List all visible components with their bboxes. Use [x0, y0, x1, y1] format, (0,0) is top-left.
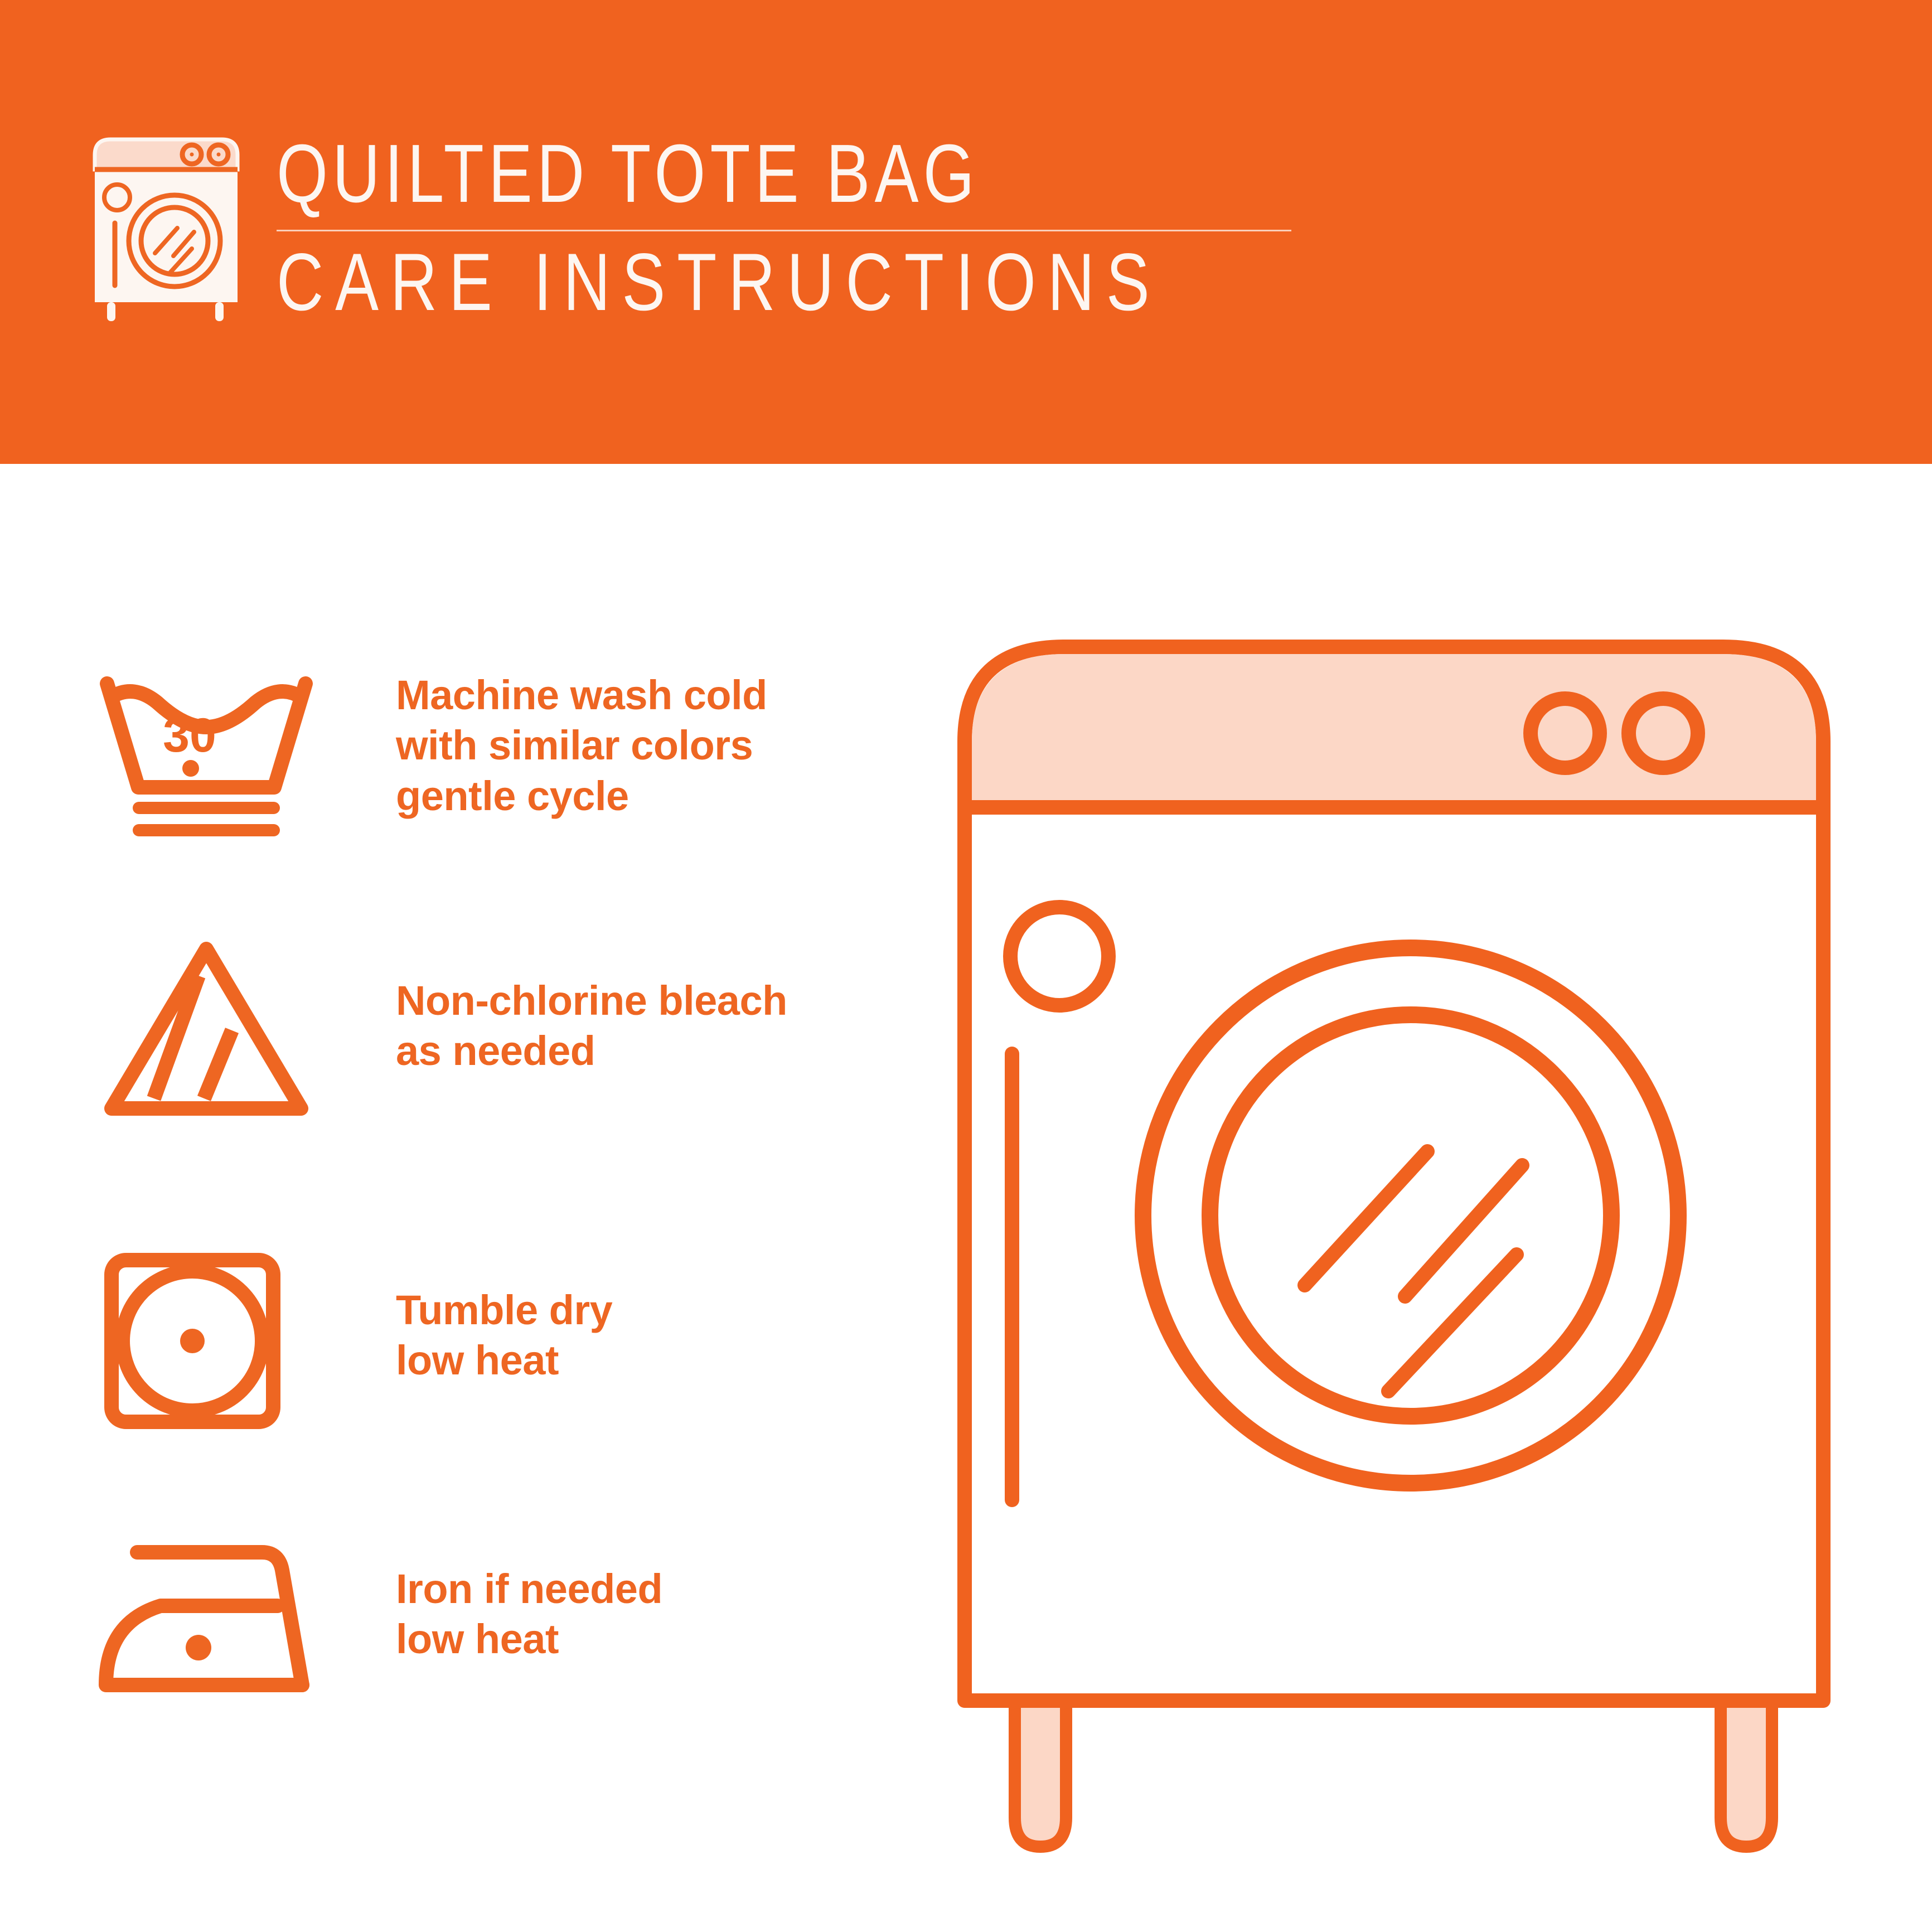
page-subtitle: CARE INSTRUCTIONS	[277, 241, 1161, 323]
non-chlorine-bleach-triangle-icon	[100, 937, 312, 1121]
care-item-iron-label: Iron if needed low heat	[396, 1564, 662, 1665]
header-title-group: QUILTED TOTE BAG CARE INSTRUCTIONS	[277, 129, 1382, 323]
knob-left	[1531, 699, 1600, 768]
leg-left	[1015, 1689, 1066, 1847]
washing-machine-icon	[83, 129, 250, 322]
wash-tub-30-gentle-icon: 30	[95, 669, 318, 842]
care-item-tumble-dry-label: Tumble dry low heat	[396, 1285, 612, 1386]
care-item-bleach-label: Non-chlorine bleach as needed	[396, 976, 787, 1077]
page-header: QUILTED TOTE BAG CARE INSTRUCTIONS	[0, 0, 1932, 464]
front-load-washing-machine-illustration	[948, 630, 1851, 1885]
leg-right	[1721, 1689, 1772, 1847]
iron-low-heat-icon	[95, 1533, 318, 1701]
page-title: QUILTED TOTE BAG	[277, 133, 1161, 215]
svg-text:30: 30	[163, 709, 216, 762]
title-divider	[277, 230, 1291, 231]
knob-right	[1629, 699, 1698, 768]
header-content: QUILTED TOTE BAG CARE INSTRUCTIONS	[83, 129, 1331, 341]
tumble-dry-low-heat-icon	[100, 1249, 284, 1433]
care-item-wash-label: Machine wash cold with similar colors ge…	[396, 670, 767, 821]
